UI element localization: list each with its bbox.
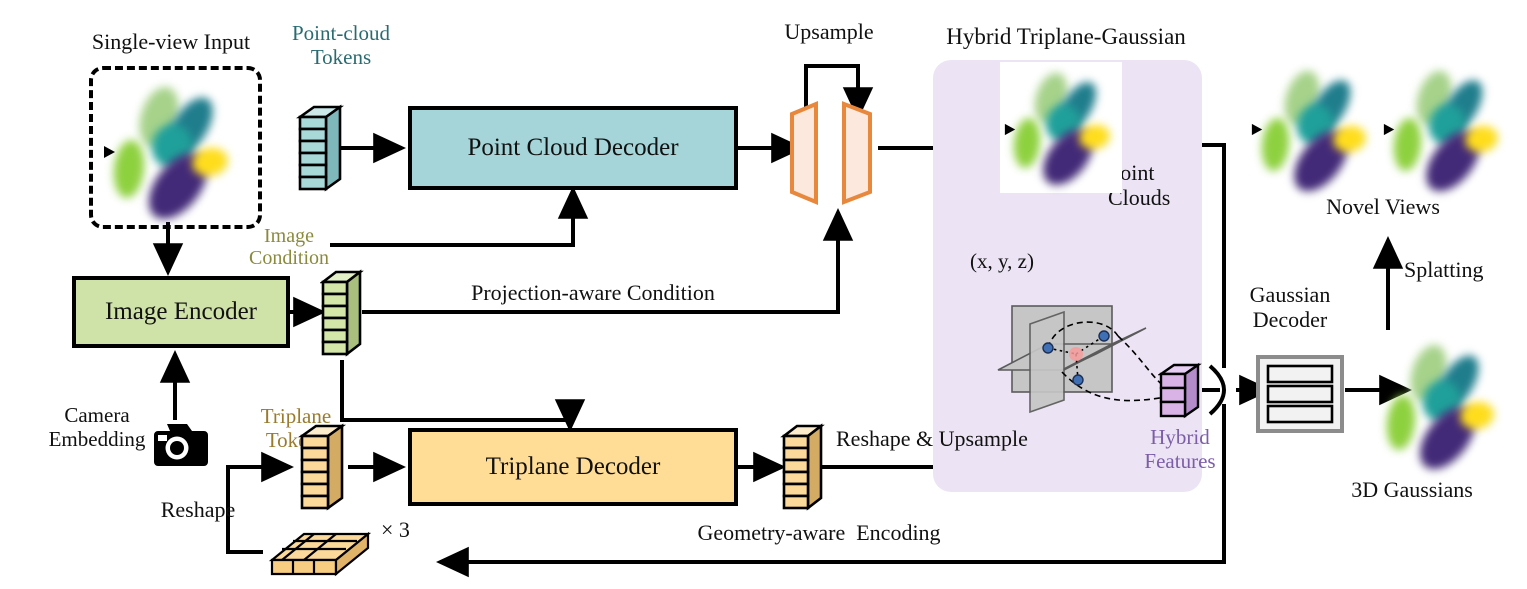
upsample-trapezoids [786, 100, 886, 206]
geometry-aware-encoding-label: Geometry-aware Encoding [697, 521, 940, 546]
triplane-decoder-label: Triplane Decoder [486, 453, 661, 481]
novel-view-thumbnail-2 [1380, 58, 1510, 198]
triplane-plate-icon [264, 518, 376, 580]
triplane-output-token-stack [780, 422, 826, 514]
triplane-planes-graphic [986, 296, 1186, 436]
image-token-stack [320, 268, 364, 360]
reshape-upsample-label: Reshape & Upsample [836, 427, 1028, 452]
point-cloud-tokens-label: Point-cloud Tokens [292, 22, 390, 69]
single-view-input-label: Single-view Input [92, 30, 250, 55]
times-three-label: × 3 [381, 518, 410, 543]
single-view-input-thumbnail [96, 72, 246, 214]
gaussian-decoder-label: Gaussian Decoder [1250, 283, 1331, 332]
point-clouds-thumbnail [1000, 62, 1122, 193]
point-cloud-decoder-block[interactable]: Point Cloud Decoder [408, 106, 738, 190]
point-cloud-decoder-label: Point Cloud Decoder [467, 134, 678, 162]
gaussian-decoder-block[interactable] [1254, 353, 1346, 435]
triplane-decoder-block[interactable]: Triplane Decoder [408, 428, 738, 506]
image-encoder-label: Image Encoder [105, 298, 257, 326]
hybrid-features-cube [1158, 362, 1202, 422]
image-encoder-block[interactable]: Image Encoder [72, 276, 290, 348]
camera-icon [146, 418, 208, 470]
three-d-gaussians-thumbnail [1372, 332, 1508, 474]
splatting-label: Splatting [1404, 258, 1483, 283]
hybrid-triplane-gaussian-label: Hybrid Triplane-Gaussian [946, 24, 1186, 50]
edge-encoder-to-triplanedecoder [342, 360, 570, 428]
novel-view-thumbnail-1 [1248, 58, 1378, 198]
image-condition-label: Image Condition [249, 225, 329, 270]
point-cloud-token-stack [296, 103, 344, 195]
three-d-gaussians-label: 3D Gaussians [1351, 478, 1473, 503]
projection-aware-condition-label: Projection-aware Condition [471, 281, 715, 306]
triplane-token-stack [298, 422, 348, 514]
upsample-label: Upsample [784, 20, 873, 45]
novel-views-label: Novel Views [1326, 195, 1440, 220]
xyz-label: (x, y, z) [970, 250, 1034, 274]
reshape-label: Reshape [161, 498, 236, 523]
camera-embedding-label: Camera Embedding [49, 404, 146, 451]
hybrid-features-label: Hybrid Features [1144, 426, 1215, 473]
diagram-canvas: Single-view Input Point-cloud Tokens Poi… [0, 0, 1527, 589]
edge-image-condition [330, 190, 573, 245]
